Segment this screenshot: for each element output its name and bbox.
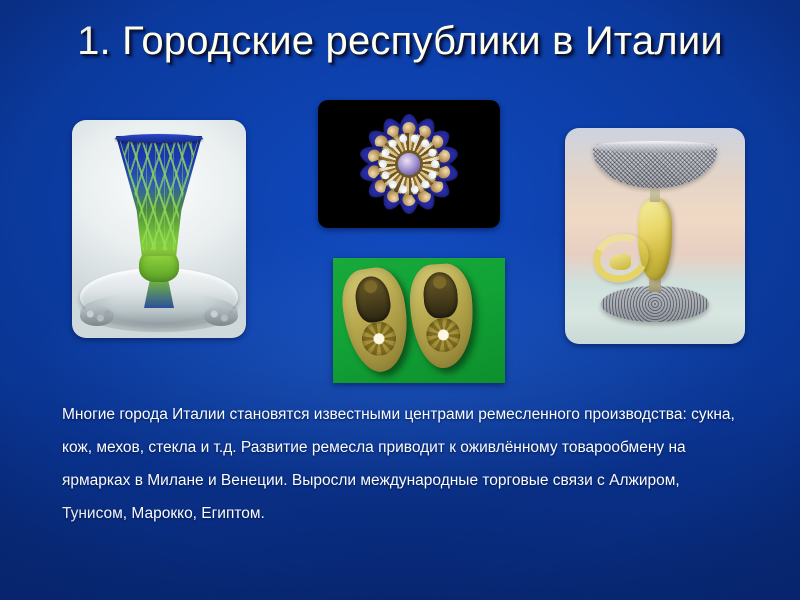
image-cut-crystal-vase [72,120,246,338]
image-venetian-murano-glass [565,128,745,344]
image-gold-embroidered-slippers [333,258,505,383]
rose-floral-dot [379,160,387,168]
vase-cut-pattern [119,138,199,250]
vase-rim [115,134,203,143]
glass-dragon-head [609,254,631,270]
glass-bowl-rim [592,141,718,153]
presentation-slide: 1. Городские республики в Италии [0,0,800,600]
image-shoes-canvas [333,258,505,383]
image-glass-canvas [565,128,745,344]
rose-center-medallion [398,153,420,175]
rose-floral-dot [431,160,439,168]
image-vase-canvas [72,120,246,338]
body-paragraph: Многие города Италии становятся известны… [62,398,738,530]
slide-body-text: Многие города Италии становятся известны… [62,398,738,530]
image-stained-glass-rose-window [318,100,500,228]
slipper-right [407,262,476,370]
rose-window-graphic [355,110,463,218]
image-rose-canvas [318,100,500,228]
slipper-left [337,264,415,376]
tray-ornament-right [204,306,238,326]
tray-ornament-left [80,306,114,326]
slide-title: 1. Городские республики в Италии [0,16,800,66]
